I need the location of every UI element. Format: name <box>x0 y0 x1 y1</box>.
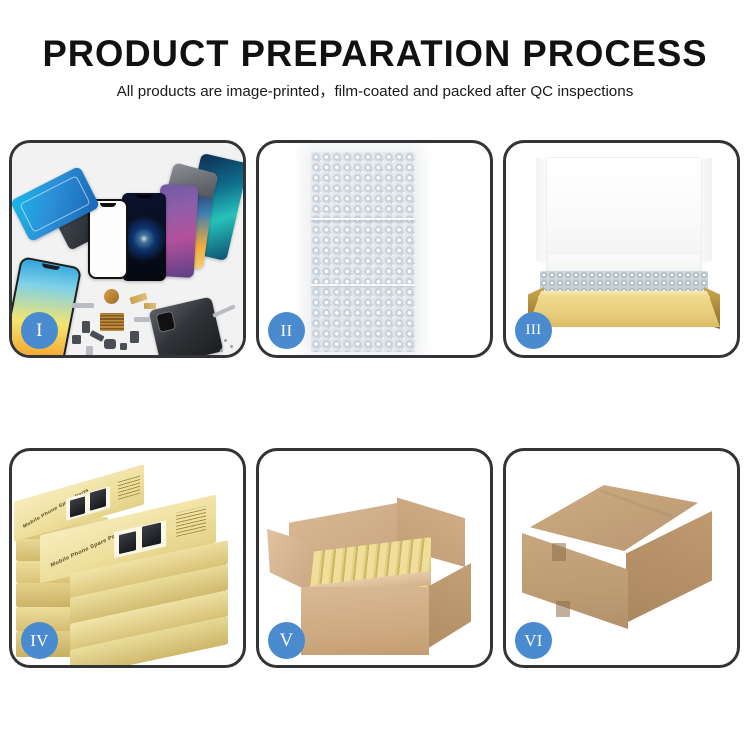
step-badge-4: IV <box>21 622 58 659</box>
screen-glass-panel <box>88 199 128 279</box>
bubble-wrap-seam-2 <box>311 284 415 286</box>
step-panel-1[interactable]: I <box>9 140 246 358</box>
part-speaker-coil <box>104 289 119 304</box>
part-screw-3 <box>220 349 223 352</box>
step-badge-2: II <box>268 312 305 349</box>
bubble-wrap-sheet <box>311 152 415 352</box>
printed-box-thumb-2a <box>119 531 136 554</box>
part-button-flex <box>130 331 139 343</box>
carton-side-right <box>427 563 471 649</box>
box-front-panel <box>528 295 720 327</box>
part-camera-module <box>104 339 116 349</box>
step-panel-4[interactable]: Mobile Phone Spare Parts Mobile Phone Sp… <box>9 448 246 668</box>
page-subtitle: All products are image-printed，film-coat… <box>0 82 750 102</box>
part-chip-2 <box>120 343 127 350</box>
step-panel-2[interactable]: II <box>256 140 493 358</box>
printed-box-thumb-2b <box>142 522 161 547</box>
page-title: PRODUCT PREPARATION PROCESS <box>6 33 745 75</box>
bubble-wrap-highlights <box>311 152 415 352</box>
part-tweezers <box>212 304 236 317</box>
part-chip-1 <box>72 335 81 344</box>
part-screw-1 <box>224 339 227 342</box>
part-sim-tray <box>86 346 93 355</box>
part-screw-2 <box>230 345 233 348</box>
part-connector-1 <box>82 321 90 333</box>
step-panel-3[interactable]: III <box>503 140 740 358</box>
step-badge-5: V <box>268 622 305 659</box>
step-badge-6: VI <box>515 622 552 659</box>
part-ic-grid <box>100 313 124 331</box>
part-flex-cable-2 <box>144 303 156 309</box>
carton-front-panel <box>301 587 429 655</box>
step-badge-3: III <box>515 312 552 349</box>
phone-back-housing <box>149 297 224 355</box>
process-step-grid: I II III <box>9 140 741 668</box>
part-bracket-1 <box>89 330 104 342</box>
bubble-wrap-seam-1 <box>311 218 415 220</box>
step-badge-1: I <box>21 312 58 349</box>
header-block: PRODUCT PREPARATION PROCESS All products… <box>0 0 750 102</box>
sealed-carton-tape-upper <box>552 543 566 561</box>
step-panel-6[interactable]: VI <box>503 448 740 668</box>
sealed-carton-tape-lower <box>556 601 570 617</box>
part-strip-2 <box>134 317 150 322</box>
step-panel-5[interactable]: V <box>256 448 493 668</box>
phone-blue-swirl <box>122 193 166 281</box>
part-strip-1 <box>72 303 94 308</box>
